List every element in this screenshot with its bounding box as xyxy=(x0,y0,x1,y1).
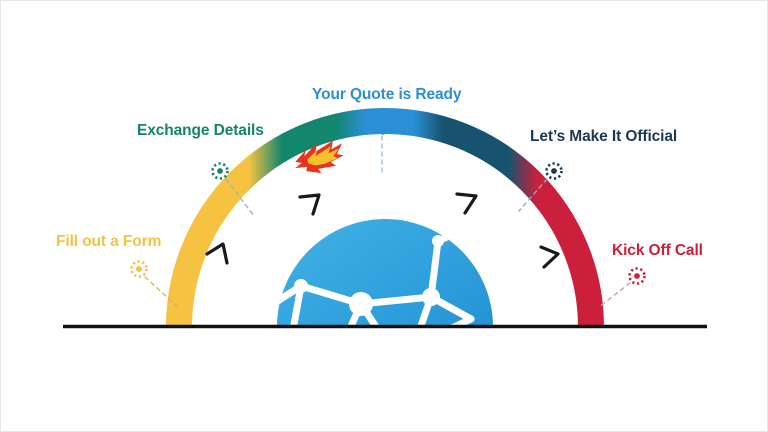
globe-node-4 xyxy=(406,338,422,354)
marker-lets-make-it-official[interactable] xyxy=(547,164,562,179)
step-label-lets-make-it-official: Let’s Make It Official xyxy=(530,129,677,145)
infographic-canvas: Fill out a Form Exchange Details Your Qu… xyxy=(0,0,768,432)
marker-exchange-details[interactable] xyxy=(213,164,228,179)
step-label-exchange-details: Exchange Details xyxy=(137,123,264,139)
notch-2 xyxy=(300,195,319,214)
marker-dot-3 xyxy=(379,123,385,129)
globe-node-6 xyxy=(285,335,297,347)
globe-link-13 xyxy=(438,223,479,241)
marker-fill-out-a-form[interactable] xyxy=(132,262,147,277)
notch-1 xyxy=(207,244,227,263)
notch-3 xyxy=(457,194,476,213)
globe-node-2 xyxy=(422,288,440,306)
marker-dot-2 xyxy=(217,168,223,174)
notch-4 xyxy=(541,247,558,267)
globe-link-11 xyxy=(414,346,421,401)
step-label-kick-off-call: Kick Off Call xyxy=(612,243,703,259)
globe-node-3 xyxy=(294,279,308,293)
process-arch-illustration xyxy=(1,1,768,432)
step-label-fill-out-a-form: Fill out a Form xyxy=(56,234,161,250)
marker-kick-off-call[interactable] xyxy=(630,269,645,284)
leader-line-kick-off-call xyxy=(599,283,630,307)
globe-link-14 xyxy=(331,357,396,371)
globe-node-5 xyxy=(324,364,338,378)
step-label-your-quote-is-ready: Your Quote is Ready xyxy=(312,87,461,103)
globe-node-7 xyxy=(432,235,444,247)
marker-dot-4 xyxy=(551,168,557,174)
globe-node-hub xyxy=(349,292,373,316)
marker-dot-5 xyxy=(634,273,640,279)
marker-dot-1 xyxy=(136,266,142,272)
globe-link-12 xyxy=(291,341,331,371)
